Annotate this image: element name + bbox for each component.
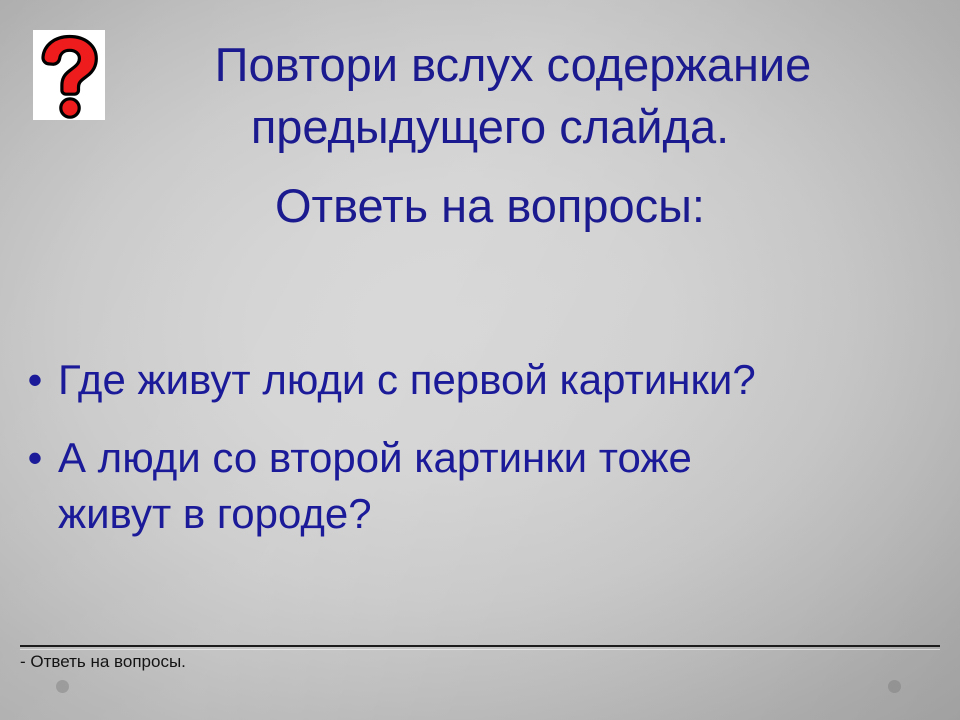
- decorative-dot-right: [888, 680, 901, 693]
- footer-divider-highlight: [20, 649, 940, 650]
- title-line-3: Ответь на вопросы:: [60, 175, 920, 237]
- bullet-marker-icon: •: [12, 352, 58, 408]
- list-item: • Где живут люди с первой картинки?: [12, 352, 892, 408]
- question-text-1: Где живут люди с первой картинки?: [58, 352, 758, 408]
- list-item: • А люди со второй картинки тоже живут в…: [12, 430, 892, 542]
- question-list: • Где живут люди с первой картинки? • А …: [12, 352, 892, 564]
- bullet-marker-icon: •: [12, 430, 58, 486]
- slide-canvas: Повтори вслух содержание предыдущего сла…: [0, 0, 960, 720]
- footer-note: - Ответь на вопросы.: [20, 651, 186, 673]
- decorative-dot-left: [56, 680, 69, 693]
- footer-divider: [20, 645, 940, 647]
- title-line-2: предыдущего слайда.: [60, 96, 920, 158]
- slide-title: Повтори вслух содержание предыдущего сла…: [60, 34, 920, 237]
- title-line-1: Повтори вслух содержание: [60, 34, 920, 96]
- question-text-2: А люди со второй картинки тоже живут в г…: [58, 430, 758, 542]
